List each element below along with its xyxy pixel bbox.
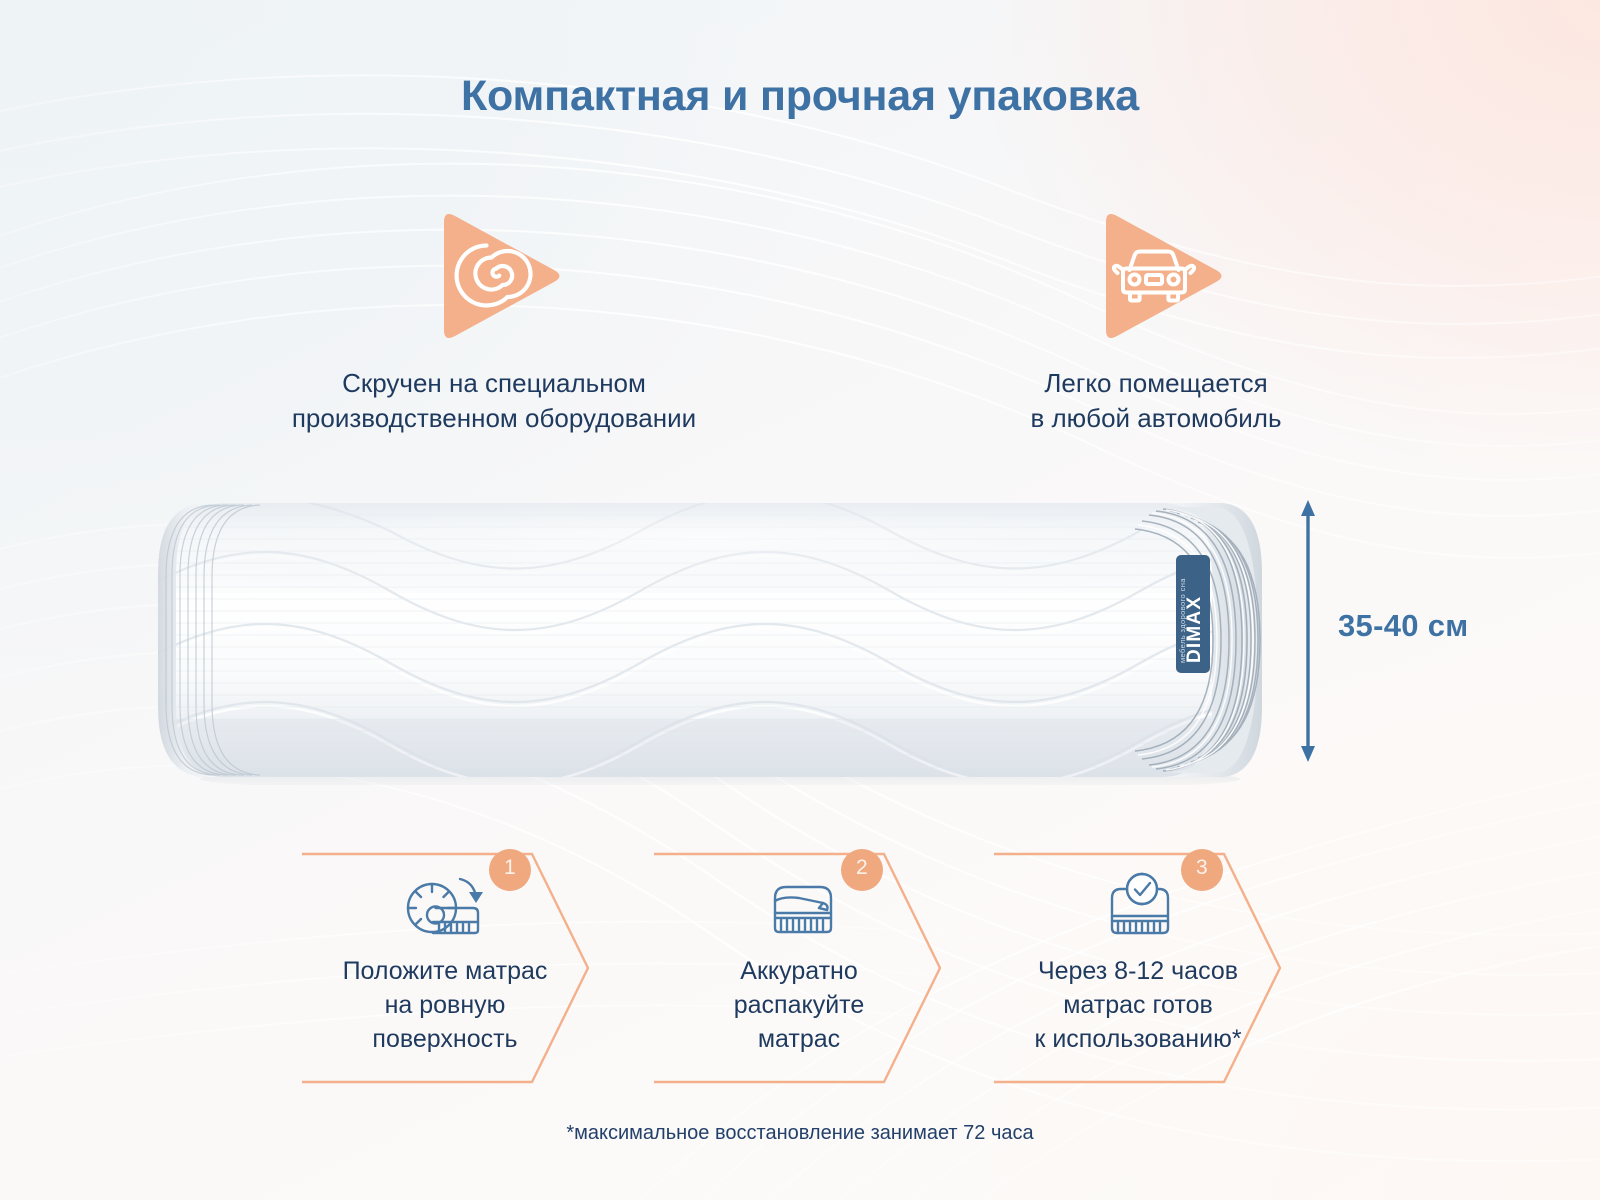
unpack-mattress-icon (654, 870, 944, 947)
mattress-ready-check-icon (988, 870, 1288, 949)
car-front-icon (1076, 200, 1236, 350)
feature-rolled-on-equipment: Скручен на специальном производственном … (144, 200, 844, 435)
svg-text:DIMAX: DIMAX (1184, 596, 1205, 663)
brand-label-tag: DIMAX мебель здорового сна (1176, 555, 1210, 673)
dimension-label: 35-40 см (1338, 608, 1468, 644)
rolled-mattress-image: DIMAX мебель здорового сна (150, 495, 1310, 785)
dimension-arrow (1296, 500, 1320, 762)
step-3: 3 Через 8-12 часов матрас готов к исполь… (988, 848, 1340, 1088)
unroll-mattress-icon (300, 870, 590, 947)
footnote: *максимальное восстановление занимает 72… (0, 1122, 1600, 1145)
mattress-roll-graphic: DIMAX мебель здорового сна (150, 495, 1310, 785)
feature-caption: Скручен на специальном производственном … (144, 366, 844, 435)
step-text: Через 8-12 часов матрас готов к использо… (988, 954, 1288, 1056)
svg-text:мебель здорового сна: мебель здорового сна (1178, 578, 1187, 663)
step-text: Аккуратно распакуйте матрас (654, 954, 944, 1056)
spiral-triangle-badge (144, 200, 844, 350)
car-triangle-badge (846, 200, 1466, 350)
instruction-steps: 1 (296, 848, 1306, 1088)
step-2: 2 Аккуратно распакуйте матрас (648, 848, 1000, 1088)
step-text: Положите матрас на ровную поверхность (300, 954, 590, 1056)
spiral-icon (414, 200, 574, 350)
feature-caption: Легко помещается в любой автомобиль (846, 366, 1466, 435)
step-1: 1 (296, 848, 648, 1088)
feature-fits-any-car: Легко помещается в любой автомобиль (846, 200, 1466, 435)
page-title: Компактная и прочная упаковка (0, 72, 1600, 121)
